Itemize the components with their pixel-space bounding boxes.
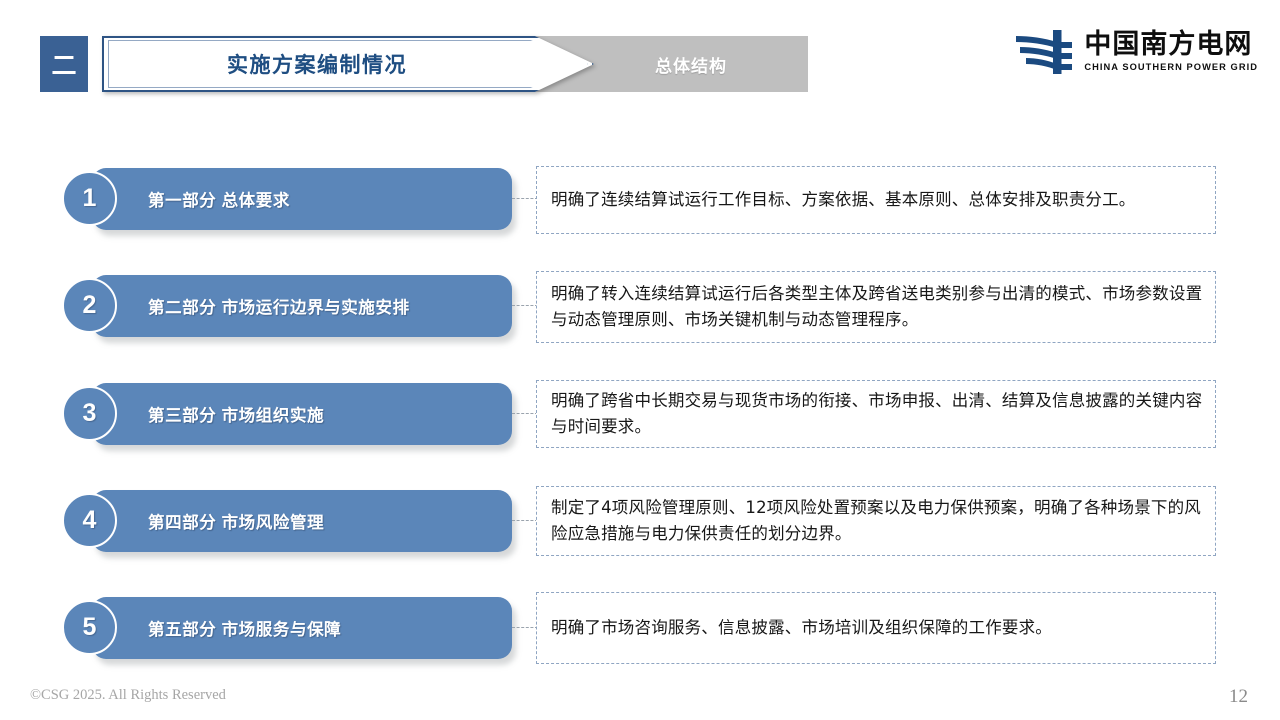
part-label: 第三部分 市场组织实施	[148, 383, 496, 445]
description-box: 明确了转入连续结算试运行后各类型主体及跨省送电类别参与出清的模式、市场参数设置与…	[536, 271, 1216, 343]
part-label: 第五部分 市场服务与保障	[148, 597, 496, 659]
part-pill[interactable]: 第五部分 市场服务与保障	[92, 597, 512, 659]
description-text: 明确了连续结算试运行工作目标、方案依据、基本原则、总体安排及职责分工。	[551, 187, 1136, 213]
description-text: 明确了跨省中长期交易与现货市场的衔接、市场申报、出清、结算及信息披露的关键内容与…	[551, 388, 1203, 439]
row-connector-line	[512, 305, 538, 306]
part-number-circle: 3	[62, 386, 117, 441]
structure-rows: 第一部分 总体要求 1 明确了连续结算试运行工作目标、方案依据、基本原则、总体安…	[0, 0, 1280, 720]
description-text: 制定了4项风险管理原则、12项风险处置预案以及电力保供预案，明确了各种场景下的风…	[551, 495, 1203, 546]
part-pill[interactable]: 第一部分 总体要求	[92, 168, 512, 230]
part-number-circle: 5	[62, 600, 117, 655]
part-label: 第一部分 总体要求	[148, 168, 496, 230]
row-connector-line	[512, 413, 538, 414]
description-text: 明确了市场咨询服务、信息披露、市场培训及组织保障的工作要求。	[551, 615, 1052, 641]
part-number-circle: 4	[62, 493, 117, 548]
part-pill[interactable]: 第三部分 市场组织实施	[92, 383, 512, 445]
footer-copyright: ©CSG 2025. All Rights Reserved	[30, 687, 226, 704]
part-pill[interactable]: 第二部分 市场运行边界与实施安排	[92, 275, 512, 337]
description-box: 明确了连续结算试运行工作目标、方案依据、基本原则、总体安排及职责分工。	[536, 166, 1216, 234]
page-number: 12	[1229, 686, 1248, 708]
row-connector-line	[512, 520, 538, 521]
description-box: 明确了市场咨询服务、信息披露、市场培训及组织保障的工作要求。	[536, 592, 1216, 664]
part-label: 第四部分 市场风险管理	[148, 490, 496, 552]
row-connector-line	[512, 198, 538, 199]
part-label: 第二部分 市场运行边界与实施安排	[148, 275, 496, 337]
part-pill[interactable]: 第四部分 市场风险管理	[92, 490, 512, 552]
row-connector-line	[512, 627, 538, 628]
part-number-circle: 2	[62, 278, 117, 333]
part-number-circle: 1	[62, 171, 117, 226]
description-box: 制定了4项风险管理原则、12项风险处置预案以及电力保供预案，明确了各种场景下的风…	[536, 486, 1216, 556]
description-text: 明确了转入连续结算试运行后各类型主体及跨省送电类别参与出清的模式、市场参数设置与…	[551, 281, 1203, 332]
description-box: 明确了跨省中长期交易与现货市场的衔接、市场申报、出清、结算及信息披露的关键内容与…	[536, 380, 1216, 448]
